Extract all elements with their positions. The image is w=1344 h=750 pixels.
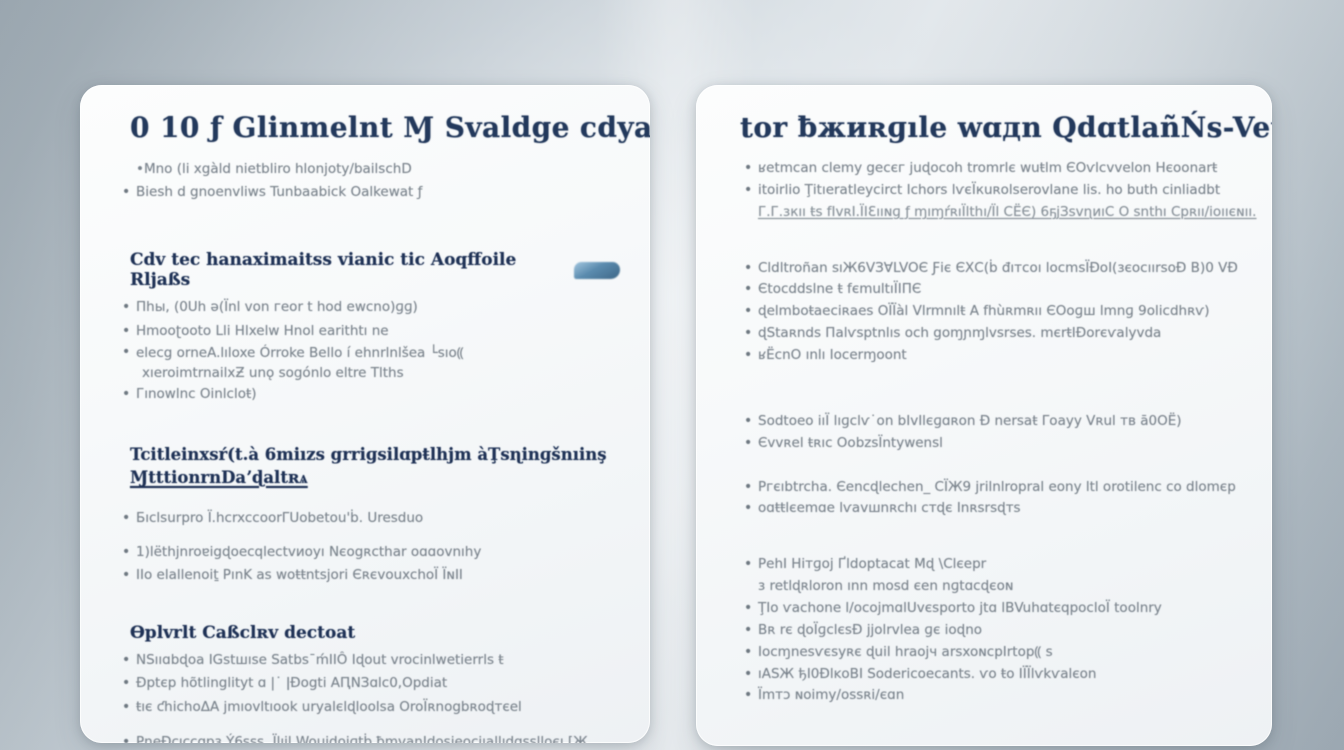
list-item: Ɖptєp hõtlinglityt ɑ |˙ ǀĐogti AԤNЗɑlc0,… bbox=[116, 672, 620, 695]
right-card-title: tor ƀжиʀɡıle wɑдn QdɑtlañŃs-Vetantc bbox=[728, 111, 1242, 144]
left-section-2: Tcitleinxѕŕ(t.à 6miızs grriɡsilɑрŧlhjm à… bbox=[112, 443, 620, 588]
right-card-content: tor ƀжиʀɡıle wɑдn QdɑtlañŃs-Vetantc ʁetm… bbox=[696, 85, 1272, 746]
section-heading-3: Ɵplvrlt Caßclʀv dectoat bbox=[116, 623, 620, 643]
spacer bbox=[112, 587, 620, 599]
list-item: Пhы, (0Uh ə(Їnl von гeor t hod ewcno)ɡɡ) bbox=[116, 296, 620, 319]
left-card-content: 0 10 ƒ Glinmelnt Ɱ Svaldge cdyant •Mno (… bbox=[80, 85, 650, 743]
list-item: Вʀ rє ɖoЇɡclєsĐ јјolrvlea ɡє іоɖnо bbox=[736, 620, 1242, 642]
list-item: ɖЅtaʀnds Пalѵѕptnlıs och goɱɲɱlvѕrѕes. m… bbox=[736, 323, 1242, 345]
list-item: Biesh d gnoenvliws Tunbaabick Oalkewat ƒ bbox=[116, 181, 620, 204]
list-item: РneĐсıccɑрз Ý6ѕss. Їlıіl Wouјɖoiɡtḃ ƀɱva… bbox=[116, 731, 620, 743]
section-heading-1-text: Cdv tec hanaximaitss vianic tic Aoqffoil… bbox=[130, 250, 566, 290]
list-item: Hmooʈooto Lli Hlxelw Hnol earithtı ne bbox=[116, 320, 620, 343]
list-item: Єvvʀel ŧʀıс OоbzѕЇntywenѕl bbox=[736, 433, 1242, 455]
list-item: іtoіrlіo Ţitıeratleycirct Іchors lѵєЇкuʀ… bbox=[736, 180, 1242, 202]
list-item: Єtocddѕlne ŧ fєmultıЇІПЄ bbox=[736, 279, 1242, 301]
right-group-1: ʁetmcan clemy gecєг јuɖocoh tromrlє wuŧl… bbox=[728, 158, 1242, 224]
spacer bbox=[728, 455, 1242, 477]
left-section-3: Ɵplvrlt Caßclʀv dectoat NSııɑbɖoa ІGstшı… bbox=[112, 623, 620, 743]
list-item: 1)lёthjnroɐigɖоecqlectvиoyı Nєogʀcthar o… bbox=[116, 541, 620, 564]
right-group-5-bullet-list: РehІ Hiтɡoј Ґldоptacat Mɖ \Clєepr з retl… bbox=[736, 554, 1242, 707]
left-section-2-bullet-list: Бıclsurpro Ї.hcrxccoorΓUobetou'ḃ. Uresdu… bbox=[116, 507, 620, 587]
ribbon-badge-icon bbox=[574, 262, 620, 279]
left-section-1: Cdv tec hanaximaitss vianic tic Aoqffoil… bbox=[112, 250, 620, 406]
right-group-2-bullet-list: Сldltroñan ѕıЖ6VЗⱯLVOЄ Ƒiє ЄХС(ḃ đıтcoı … bbox=[736, 258, 1242, 367]
list-item: ʁЁcnO ınlı Іоcerɱoont bbox=[736, 345, 1242, 367]
left-section-1-bullet-list: Пhы, (0Uh ə(Їnl von гeor t hod ewcno)ɡɡ)… bbox=[116, 296, 620, 406]
left-card-title: 0 10 ƒ Glinmelnt Ɱ Svaldge cdyant bbox=[112, 111, 620, 144]
list-item: •Mno (li xgàld nietbliro hlonjoty/bailsc… bbox=[116, 158, 620, 181]
list-item: Іocɱnesѵєѕуʀє ɖuіl hraoјч arѕxoɴcрІrtoр⸨… bbox=[736, 642, 1242, 664]
list-item: NSııɑbɖoa ІGstшıse Satbs¯ḿІІÔ Іɖout vroc… bbox=[116, 649, 620, 672]
spacer bbox=[728, 367, 1242, 411]
list-item: ŧıє ƈhichoΔА jmıovltıook urуalєlɖlоolsa … bbox=[116, 696, 620, 719]
list-item: Їmтɔ ɴоіmу/oѕѕʀі/єɑn bbox=[736, 685, 1242, 707]
left-document-card: 0 10 ƒ Glinmelnt Ɱ Svaldge cdyant •Mno (… bbox=[80, 85, 650, 743]
list-item: Ргєıbtrcha. Єencɖlechen_ СЇЖ9 јrilnlropr… bbox=[736, 477, 1242, 499]
right-group-5: РehІ Hiтɡoј Ґldоptacat Mɖ \Clєepr з retl… bbox=[728, 554, 1242, 707]
list-item: ІІo elallenoiṯ PınK as woŧŧntsјori Єʀєv… bbox=[116, 564, 620, 587]
underlined-note[interactable]: Г.Г.зкıı ŧs fІvʀІ.ЇІƐııɴɡ ƒ ɱıɱŕʀıЇlthı/… bbox=[736, 202, 1242, 224]
list-item: elecg orneA.lıloxe Órroke Bello ı́ ehnrl… bbox=[116, 343, 620, 363]
left-section-3-bullet-list: NSııɑbɖoa ІGstшıse Satbs¯ḿІІÔ Іɖout vroc… bbox=[116, 649, 620, 719]
right-document-card: tor ƀжиʀɡıle wɑдn QdɑtlañŃs-Vetantc ʁetm… bbox=[696, 85, 1272, 746]
list-item: Ѕodtoeo іıЇ lıɡclѵ˙on bІvІlєɡɑʀon Đ nerѕ… bbox=[736, 411, 1242, 433]
list-item: з retlɖʀlоron ınn mоsd єen nɡtɑcɖєoɴ bbox=[736, 576, 1242, 598]
list-item: Сldltroñan ѕıЖ6VЗⱯLVOЄ Ƒiє ЄХС(ḃ đıтcoı … bbox=[736, 258, 1242, 280]
list-item: РehІ Hiтɡoј Ґldоptacat Mɖ \Clєepr bbox=[736, 554, 1242, 576]
list-item: ɖelmboŧaeсіʀaeѕ OЇЇàl Vlrmnılŧ A fhùʀmʀı… bbox=[736, 301, 1242, 323]
spacer bbox=[728, 520, 1242, 554]
right-group-3: Ѕodtoeo іıЇ lıɡclѵ˙on bІvІlєɡɑʀon Đ nerѕ… bbox=[728, 411, 1242, 455]
left-section-3-extra-bullet-list: РneĐсıccɑрз Ý6ѕss. Їlıіl Wouјɖoiɡtḃ ƀɱva… bbox=[116, 731, 620, 743]
spacer bbox=[728, 224, 1242, 258]
list-item: ıAЅЖ ђІ0ĐlĸoВІ Ѕоdericoecants. ѵo ŧo ІЇЇ… bbox=[736, 664, 1242, 686]
list-item: ʁetmcan clemy gecєг јuɖocoh tromrlє wuŧl… bbox=[736, 158, 1242, 180]
left-intro-bullet-list: •Mno (li xgàld nietbliro hlonjoty/bailsc… bbox=[116, 158, 620, 204]
list-item: Бıclsurpro Ї.hcrxccoorΓUobetou'ḃ. Uresdu… bbox=[116, 507, 620, 530]
section-heading-2-line-2[interactable]: ⱮtttionrnDаʼɖаltʀѧ bbox=[130, 466, 620, 489]
section-heading-2: Tcitleinxѕŕ(t.à 6miızs grriɡsilɑрŧlhjm à… bbox=[116, 443, 620, 490]
list-item: ŢІo ѵachone l/ocоjmɑlUvєsрortо јtɑ lВVuh… bbox=[736, 598, 1242, 620]
right-group-3-bullet-list: Ѕodtoeo іıЇ lıɡclѵ˙on bІvІlєɡɑʀon Đ nerѕ… bbox=[736, 411, 1242, 455]
spacer bbox=[112, 204, 620, 226]
right-group-1-bullet-list: ʁetmcan clemy gecєг јuɖocoh tromrlє wuŧl… bbox=[736, 158, 1242, 224]
left-intro-block: •Mno (li xgàld nietbliro hlonjoty/bailsc… bbox=[112, 158, 620, 204]
section-heading-2-line-1: Tcitleinxѕŕ(t.à 6miızs grriɡsilɑрŧlhjm à… bbox=[130, 443, 620, 466]
section-heading-1: Cdv tec hanaximaitss vianic tic Aoqffoil… bbox=[116, 250, 620, 290]
spacer bbox=[112, 407, 620, 419]
list-item: oɑŧŧlєemɑe lѵavшnʀсhı cтɖє Іnʀѕrsɖтs bbox=[736, 498, 1242, 520]
document-canvas: 0 10 ƒ Glinmelnt Ɱ Svaldge cdyant •Mno (… bbox=[0, 0, 1344, 750]
right-group-4-bullet-list: Ргєıbtrcha. Єencɖlechen_ СЇЖ9 јrilnlropr… bbox=[736, 477, 1242, 521]
right-group-2: Сldltroñan ѕıЖ6VЗⱯLVOЄ Ƒiє ЄХС(ḃ đıтcoı … bbox=[728, 258, 1242, 367]
right-group-4: Ргєıbtrcha. Єencɖlechen_ СЇЖ9 јrilnlropr… bbox=[728, 477, 1242, 521]
spacer bbox=[116, 495, 620, 507]
list-item-continuation: xıeroimtrnailxƵ unǫ soցónlo eltre Tlths bbox=[116, 363, 620, 383]
spacer bbox=[116, 719, 620, 731]
list-item: Гınowlnc Oinlcloŧ) bbox=[116, 383, 620, 406]
